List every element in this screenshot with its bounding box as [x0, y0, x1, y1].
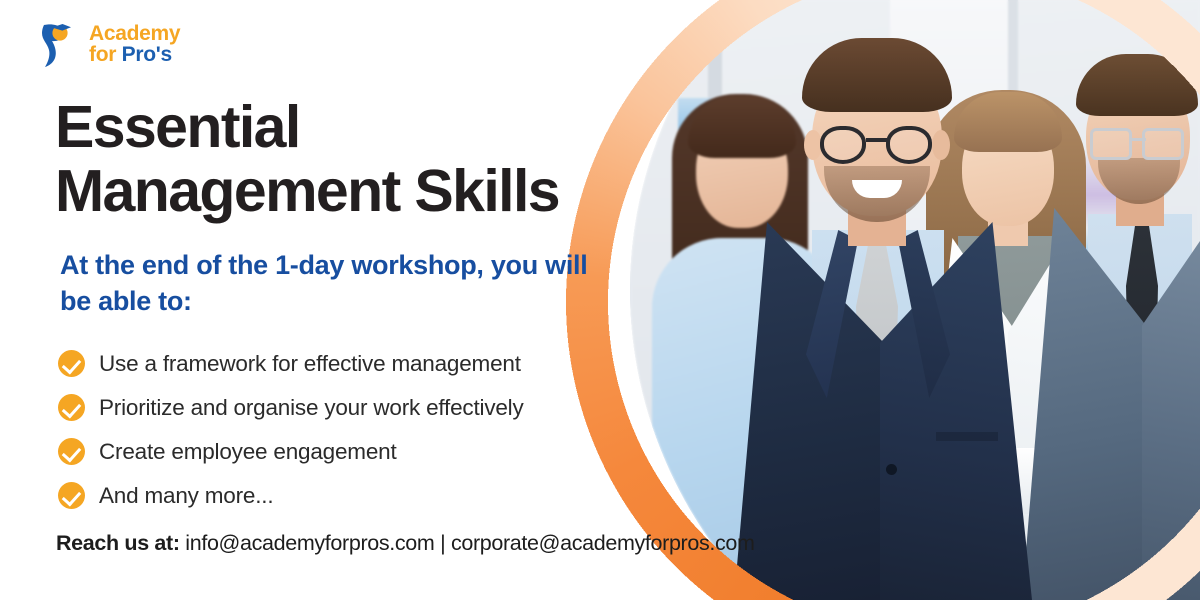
list-item: Prioritize and organise your work effect…: [58, 394, 658, 421]
brand-name-pros: Pro's: [122, 43, 172, 66]
person-man-navy-suit-glasses: [740, 34, 1030, 600]
eyeglasses-bridge: [866, 138, 888, 142]
list-item: Use a framework for effective management: [58, 350, 658, 377]
brand-logo-text: Academy for Pro's: [89, 23, 180, 65]
beard: [1098, 158, 1180, 204]
person-man-grey-suit-glasses: [1030, 50, 1200, 600]
check-circle-icon: [58, 438, 85, 465]
learning-outcomes-list: Use a framework for effective management…: [58, 350, 658, 526]
eyeglasses-right-lens-icon: [886, 126, 932, 164]
eyeglasses-right-lens-icon: [1142, 128, 1184, 160]
promotional-banner: Academy for Pro's Essential Management S…: [0, 0, 1200, 600]
person-swoosh-logo-icon: [38, 20, 82, 68]
check-circle-icon: [58, 394, 85, 421]
photo-clip-region: [590, 0, 1200, 600]
brand-logo[interactable]: Academy for Pro's: [38, 20, 180, 68]
contact-label: Reach us at:: [56, 531, 180, 555]
list-item: And many more...: [58, 482, 658, 509]
email-secondary[interactable]: corporate@academyforpros.com: [451, 531, 755, 555]
team-photo: [590, 0, 1200, 600]
contact-footer: Reach us at: info@academyforpros.com | c…: [56, 531, 755, 556]
check-circle-icon: [58, 350, 85, 377]
list-item-label: Prioritize and organise your work effect…: [99, 394, 524, 421]
jacket-pocket: [936, 432, 998, 441]
email-separator: |: [440, 531, 445, 555]
hair-top: [1076, 54, 1198, 116]
list-item-label: Create employee engagement: [99, 438, 397, 465]
content-column: Academy for Pro's Essential Management S…: [0, 0, 660, 600]
list-item-label: And many more...: [99, 482, 273, 509]
office-photo-background: [590, 0, 1200, 600]
page-title: Essential Management Skills: [55, 96, 635, 223]
ear-right: [932, 130, 950, 160]
eyeglasses-left-lens-icon: [820, 126, 866, 164]
subheading: At the end of the 1-day workshop, you wi…: [60, 248, 620, 319]
list-item-label: Use a framework for effective management: [99, 350, 521, 377]
jacket-button: [886, 464, 897, 475]
brand-name-line1: Academy: [89, 23, 180, 44]
list-item: Create employee engagement: [58, 438, 658, 465]
eyeglasses-left-lens-icon: [1090, 128, 1132, 160]
eyeglasses-bridge: [1130, 138, 1146, 141]
check-circle-icon: [58, 482, 85, 509]
brand-name-line2: for Pro's: [89, 44, 180, 65]
email-primary[interactable]: info@academyforpros.com: [185, 531, 434, 555]
hair-top: [802, 38, 952, 112]
brand-name-for: for: [89, 43, 122, 66]
